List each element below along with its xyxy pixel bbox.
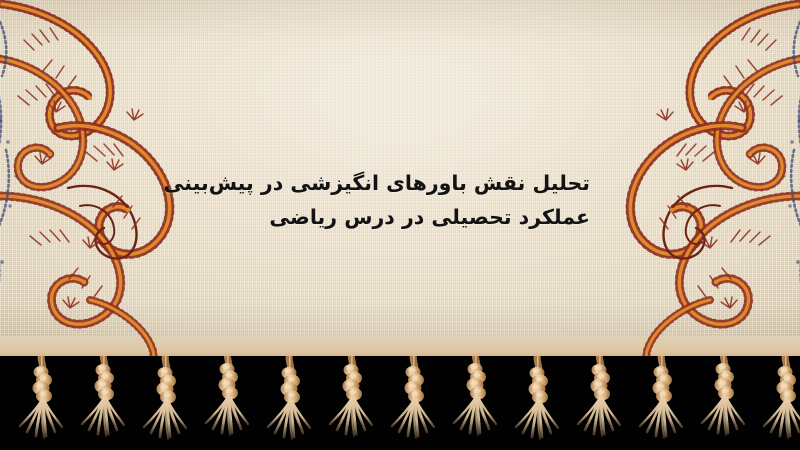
title-line-1: تحلیل نقش باورهای انگیزشی در پیش‌بینی xyxy=(214,166,590,200)
title-line-2: عملکرد تحصیلی در درس ریاضی xyxy=(214,200,590,234)
slide-canvas: تحلیل نقش باورهای انگیزشی در پیش‌بینی عم… xyxy=(0,0,800,450)
fringe-band-background xyxy=(0,356,800,450)
slide-title: تحلیل نقش باورهای انگیزشی در پیش‌بینی عم… xyxy=(214,166,590,234)
knotted-tassel-fringe xyxy=(0,356,800,450)
